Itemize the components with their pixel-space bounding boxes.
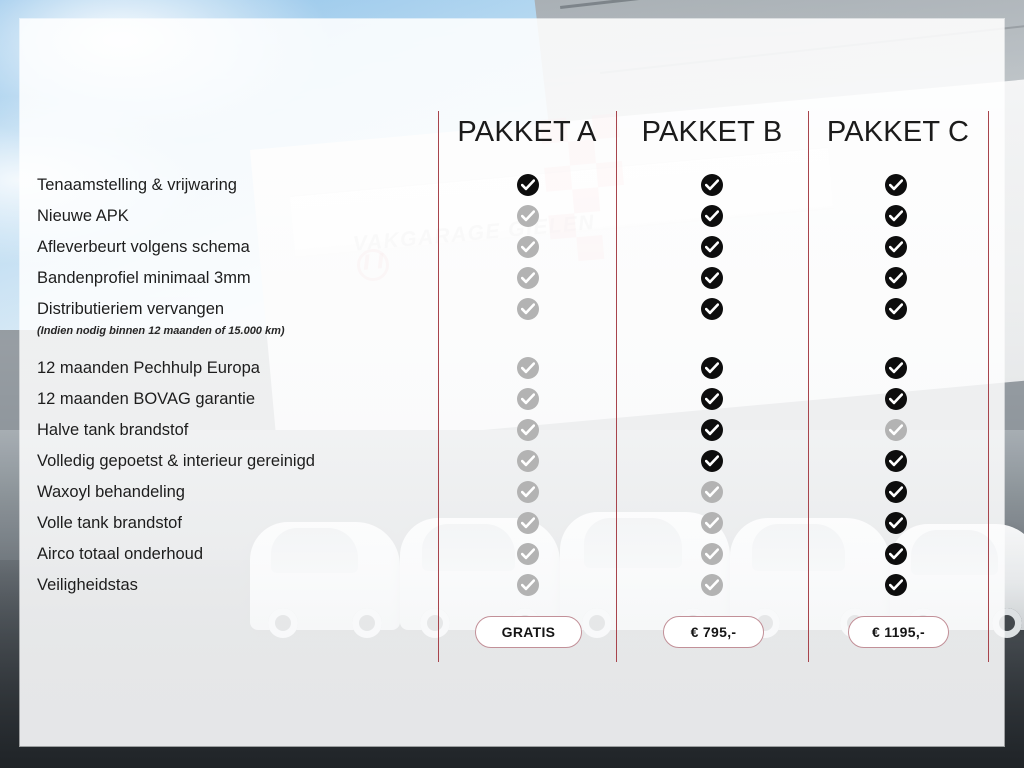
price-badge-pakket-a[interactable]: GRATIS: [475, 616, 582, 648]
check-circle-disabled-icon: [517, 205, 539, 227]
check-circle-disabled-icon: [517, 450, 539, 472]
feature-note: (Indien nodig binnen 12 maanden of 15.00…: [37, 325, 285, 337]
check-circle-filled-icon: [701, 450, 723, 472]
check-circle-disabled-icon: [701, 481, 723, 503]
price-badge-pakket-b[interactable]: € 795,-: [663, 616, 764, 648]
check-circle-disabled-icon: [517, 574, 539, 596]
check-circle-filled-icon: [701, 388, 723, 410]
column-header-pakket-c: PAKKET C: [808, 116, 988, 149]
check-circle-disabled-icon: [517, 388, 539, 410]
check-circle-filled-icon: [701, 357, 723, 379]
check-circle-filled-icon: [701, 174, 723, 196]
check-circle-filled-icon: [885, 512, 907, 534]
check-circle-filled-icon: [885, 388, 907, 410]
check-circle-disabled-icon: [701, 574, 723, 596]
feature-label: Distributieriem vervangen: [37, 300, 224, 319]
check-circle-filled-icon: [885, 267, 907, 289]
column-header-pakket-b: PAKKET B: [616, 116, 808, 149]
slide-canvas: VAKGARAGE GIELEN: [0, 0, 1024, 768]
check-circle-filled-icon: [701, 236, 723, 258]
feature-label: Waxoyl behandeling: [37, 483, 185, 502]
check-circle-disabled-icon: [885, 419, 907, 441]
check-circle-filled-icon: [701, 419, 723, 441]
check-circle-filled-icon: [701, 298, 723, 320]
feature-label: Veiligheidstas: [37, 576, 138, 595]
content-panel: PAKKET A PAKKET B PAKKET C Tenaamstellin…: [20, 19, 1004, 746]
check-circle-filled-icon: [885, 298, 907, 320]
feature-label: Halve tank brandstof: [37, 421, 188, 440]
check-circle-disabled-icon: [517, 512, 539, 534]
feature-label: Volledig gepoetst & interieur gereinigd: [37, 452, 315, 471]
check-circle-disabled-icon: [517, 236, 539, 258]
check-circle-disabled-icon: [517, 298, 539, 320]
column-divider-4: [988, 111, 989, 662]
column-divider-3: [808, 111, 809, 662]
check-circle-filled-icon: [885, 357, 907, 379]
check-circle-disabled-icon: [517, 419, 539, 441]
check-circle-disabled-icon: [517, 357, 539, 379]
check-circle-disabled-icon: [701, 543, 723, 565]
feature-label: 12 maanden BOVAG garantie: [37, 390, 255, 409]
check-circle-filled-icon: [885, 481, 907, 503]
check-circle-filled-icon: [885, 574, 907, 596]
check-circle-filled-icon: [517, 174, 539, 196]
check-circle-filled-icon: [701, 267, 723, 289]
feature-label: Airco totaal onderhoud: [37, 545, 203, 564]
feature-label: Afleverbeurt volgens schema: [37, 238, 250, 257]
feature-label: Bandenprofiel minimaal 3mm: [37, 269, 251, 288]
check-circle-filled-icon: [885, 236, 907, 258]
check-circle-filled-icon: [885, 543, 907, 565]
check-circle-disabled-icon: [517, 267, 539, 289]
column-divider-2: [616, 111, 617, 662]
check-circle-filled-icon: [885, 205, 907, 227]
check-circle-filled-icon: [701, 205, 723, 227]
check-circle-disabled-icon: [517, 481, 539, 503]
price-badge-pakket-c[interactable]: € 1195,-: [848, 616, 949, 648]
column-divider-1: [438, 111, 439, 662]
feature-label: Volle tank brandstof: [37, 514, 182, 533]
check-circle-disabled-icon: [701, 512, 723, 534]
check-circle-disabled-icon: [517, 543, 539, 565]
feature-label: 12 maanden Pechhulp Europa: [37, 359, 260, 378]
feature-label: Nieuwe APK: [37, 207, 129, 226]
check-circle-filled-icon: [885, 174, 907, 196]
check-circle-filled-icon: [885, 450, 907, 472]
feature-label: Tenaamstelling & vrijwaring: [37, 176, 237, 195]
column-header-pakket-a: PAKKET A: [438, 116, 616, 149]
